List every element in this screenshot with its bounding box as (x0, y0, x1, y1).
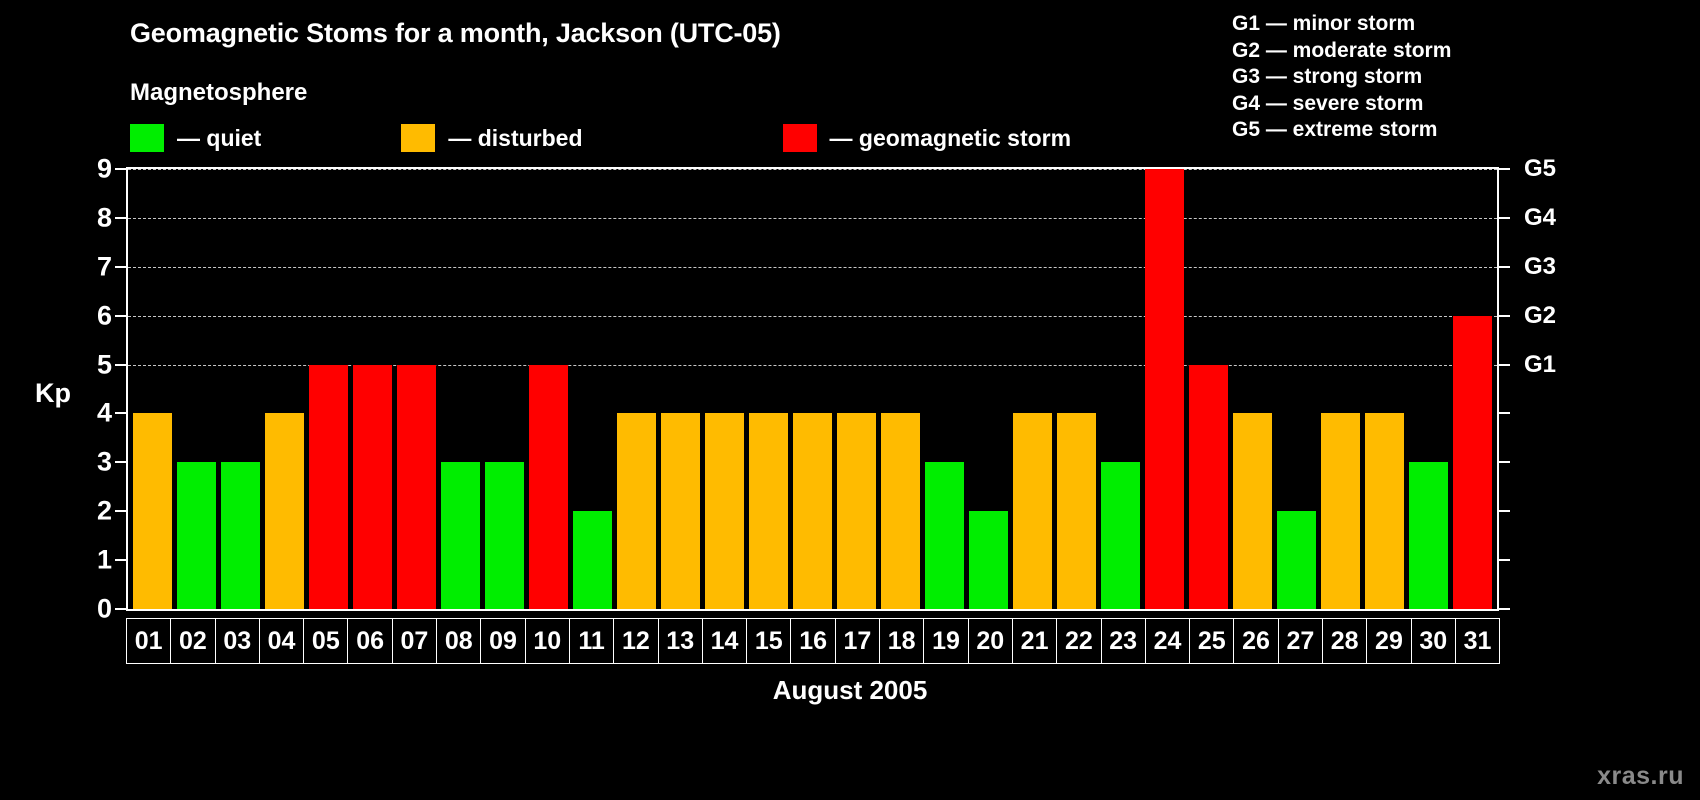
y-tick-mark-kp-3 (115, 461, 126, 463)
y-tick-mark-kp-7 (115, 266, 126, 268)
day-label-15[interactable]: 15 (746, 618, 791, 664)
bar-day-24[interactable] (1145, 169, 1184, 609)
bar-day-10[interactable] (529, 365, 568, 609)
y-tick-label-kp-2: 2 (97, 498, 112, 525)
bar-slot-02[interactable] (174, 171, 218, 609)
x-axis-title: August 2005 (0, 675, 1700, 706)
day-label-03[interactable]: 03 (215, 618, 260, 664)
x-axis-day-labels: 0102030405060708091011121314151617181920… (126, 618, 1499, 664)
bar-day-30[interactable] (1409, 462, 1448, 609)
y-tick-mark-kp-2 (115, 510, 126, 512)
bar-day-09[interactable] (485, 462, 524, 609)
bar-day-01[interactable] (133, 413, 172, 609)
page-title: Geomagnetic Stoms for a month, Jackson (… (130, 18, 781, 49)
bar-slot-12[interactable] (614, 171, 658, 609)
bar-slot-16[interactable] (790, 171, 834, 609)
bar-slot-01[interactable] (130, 171, 174, 609)
day-label-07[interactable]: 07 (392, 618, 437, 664)
legend-swatch-disturbed (401, 124, 435, 152)
day-label-30[interactable]: 30 (1411, 618, 1456, 664)
bar-day-29[interactable] (1365, 413, 1404, 609)
color-legend: — quiet— disturbed— geomagnetic storm (130, 123, 1071, 153)
day-label-29[interactable]: 29 (1366, 618, 1411, 664)
y-tick-mark-kp-9 (115, 168, 126, 170)
day-label-16[interactable]: 16 (790, 618, 835, 664)
bar-day-16[interactable] (793, 413, 832, 609)
bar-slot-27[interactable] (1275, 171, 1319, 609)
bar-slot-05[interactable] (306, 171, 350, 609)
bar-slot-15[interactable] (746, 171, 790, 609)
day-label-01[interactable]: 01 (126, 618, 171, 664)
day-label-14[interactable]: 14 (702, 618, 747, 664)
day-label-18[interactable]: 18 (879, 618, 924, 664)
bar-day-08[interactable] (441, 462, 480, 609)
bar-slot-23[interactable] (1099, 171, 1143, 609)
day-label-17[interactable]: 17 (835, 618, 880, 664)
day-label-19[interactable]: 19 (923, 618, 968, 664)
y-tick-mark-kp-4 (115, 412, 126, 414)
magnetosphere-heading: Magnetosphere (130, 79, 307, 107)
y-tick-label-g2: G2 (1524, 304, 1556, 328)
bar-day-25[interactable] (1189, 365, 1228, 609)
y-tick-mark-kp-1 (115, 559, 126, 561)
legend-label-quiet: — quiet (177, 125, 261, 152)
y-tick-label-kp-3: 3 (97, 449, 112, 476)
g-scale-row-3: G3 — strong storm (1232, 64, 1451, 91)
bar-slot-21[interactable] (1011, 171, 1055, 609)
bar-day-07[interactable] (397, 365, 436, 609)
bar-day-15[interactable] (749, 413, 788, 609)
day-label-05[interactable]: 05 (303, 618, 348, 664)
legend-label-disturbed: — disturbed (448, 125, 582, 152)
y-tick-mark-minor-kp-1 (1499, 559, 1510, 561)
day-label-28[interactable]: 28 (1322, 618, 1367, 664)
y-tick-label-g1: G1 (1524, 353, 1556, 377)
y-tick-mark-minor-kp-3 (1499, 461, 1510, 463)
day-label-20[interactable]: 20 (968, 618, 1013, 664)
g-scale-row-5: G5 — extreme storm (1232, 117, 1451, 144)
bar-day-27[interactable] (1277, 511, 1316, 609)
bar-slot-19[interactable] (923, 171, 967, 609)
y-tick-mark-g2 (1499, 315, 1510, 317)
bar-day-26[interactable] (1233, 413, 1272, 609)
bar-slot-09[interactable] (482, 171, 526, 609)
y-axis-gscale: G5G4G3G2G1 (1499, 167, 1599, 611)
legend-entry-disturbed: — disturbed (401, 123, 582, 153)
bar-slot-30[interactable] (1407, 171, 1451, 609)
day-label-22[interactable]: 22 (1056, 618, 1101, 664)
day-label-06[interactable]: 06 (347, 618, 392, 664)
bar-day-21[interactable] (1013, 413, 1052, 609)
day-label-31[interactable]: 31 (1455, 618, 1500, 664)
y-tick-mark-kp-5 (115, 364, 126, 366)
bars-container (130, 171, 1495, 609)
g-scale-legend: G1 — minor stormG2 — moderate stormG3 — … (1232, 11, 1451, 144)
y-tick-label-kp-7: 7 (97, 253, 112, 280)
y-tick-label-kp-1: 1 (97, 547, 112, 574)
bar-slot-24[interactable] (1143, 171, 1187, 609)
bar-day-06[interactable] (353, 365, 392, 609)
bar-day-31[interactable] (1453, 316, 1492, 609)
y-tick-mark-g5 (1499, 168, 1510, 170)
y-tick-mark-minor-kp-0 (1499, 608, 1510, 610)
day-label-10[interactable]: 10 (525, 618, 570, 664)
day-label-08[interactable]: 08 (436, 618, 481, 664)
bar-day-18[interactable] (881, 413, 920, 609)
bar-slot-25[interactable] (1187, 171, 1231, 609)
y-tick-mark-minor-kp-2 (1499, 510, 1510, 512)
bar-slot-13[interactable] (658, 171, 702, 609)
bar-slot-03[interactable] (218, 171, 262, 609)
legend-entry-quiet: — quiet (130, 123, 261, 153)
y-tick-label-kp-4: 4 (97, 400, 112, 427)
bar-day-03[interactable] (221, 462, 260, 609)
bar-slot-22[interactable] (1055, 171, 1099, 609)
bar-day-02[interactable] (177, 462, 216, 609)
bar-slot-10[interactable] (526, 171, 570, 609)
bar-day-23[interactable] (1101, 462, 1140, 609)
y-tick-mark-kp-6 (115, 315, 126, 317)
bar-day-11[interactable] (573, 511, 612, 609)
gridline-kp-9 (128, 169, 1497, 170)
y-tick-label-kp-8: 8 (97, 204, 112, 231)
y-axis-title: Kp (35, 378, 71, 409)
bar-day-04[interactable] (265, 413, 304, 609)
plot-area (126, 167, 1499, 611)
y-tick-mark-g4 (1499, 217, 1510, 219)
bar-slot-28[interactable] (1319, 171, 1363, 609)
g-scale-row-1: G1 — minor storm (1232, 11, 1451, 38)
day-label-04[interactable]: 04 (259, 618, 304, 664)
bar-day-19[interactable] (925, 462, 964, 609)
bar-slot-17[interactable] (835, 171, 879, 609)
day-label-21[interactable]: 21 (1012, 618, 1057, 664)
plot-inner (128, 169, 1497, 609)
day-label-23[interactable]: 23 (1101, 618, 1146, 664)
day-label-13[interactable]: 13 (658, 618, 703, 664)
bar-slot-14[interactable] (702, 171, 746, 609)
y-tick-mark-kp-8 (115, 217, 126, 219)
bar-slot-08[interactable] (438, 171, 482, 609)
y-tick-label-kp-9: 9 (97, 156, 112, 183)
y-tick-label-g3: G3 (1524, 255, 1556, 279)
day-label-11[interactable]: 11 (569, 618, 614, 664)
bar-slot-18[interactable] (879, 171, 923, 609)
bar-day-22[interactable] (1057, 413, 1096, 609)
bar-day-17[interactable] (837, 413, 876, 609)
y-tick-label-kp-5: 5 (97, 351, 112, 378)
day-label-12[interactable]: 12 (613, 618, 658, 664)
day-label-09[interactable]: 09 (480, 618, 525, 664)
watermark: xras.ru (1597, 762, 1684, 791)
y-tick-label-g4: G4 (1524, 206, 1556, 230)
bar-day-20[interactable] (969, 511, 1008, 609)
bar-slot-04[interactable] (262, 171, 306, 609)
y-tick-mark-g1 (1499, 364, 1510, 366)
bar-day-14[interactable] (705, 413, 744, 609)
day-label-27[interactable]: 27 (1278, 618, 1323, 664)
legend-entry-storm: — geomagnetic storm (783, 123, 1072, 153)
legend-swatch-quiet (130, 124, 164, 152)
bar-day-13[interactable] (661, 413, 700, 609)
bar-slot-31[interactable] (1451, 171, 1495, 609)
y-tick-label-kp-6: 6 (97, 302, 112, 329)
legend-swatch-storm (783, 124, 817, 152)
y-tick-mark-kp-0 (115, 608, 126, 610)
y-tick-mark-minor-kp-4 (1499, 412, 1510, 414)
bar-day-28[interactable] (1321, 413, 1360, 609)
g-scale-row-2: G2 — moderate storm (1232, 38, 1451, 65)
bar-slot-11[interactable] (570, 171, 614, 609)
bar-slot-20[interactable] (967, 171, 1011, 609)
day-label-24[interactable]: 24 (1145, 618, 1190, 664)
bar-slot-26[interactable] (1231, 171, 1275, 609)
day-label-25[interactable]: 25 (1189, 618, 1234, 664)
bar-day-12[interactable] (617, 413, 656, 609)
y-tick-mark-g3 (1499, 266, 1510, 268)
legend-label-storm: — geomagnetic storm (830, 125, 1072, 152)
bar-day-05[interactable] (309, 365, 348, 609)
day-label-26[interactable]: 26 (1233, 618, 1278, 664)
bar-slot-06[interactable] (350, 171, 394, 609)
bar-slot-29[interactable] (1363, 171, 1407, 609)
y-tick-label-g5: G5 (1524, 157, 1556, 181)
day-label-02[interactable]: 02 (170, 618, 215, 664)
bar-slot-07[interactable] (394, 171, 438, 609)
g-scale-row-4: G4 — severe storm (1232, 91, 1451, 118)
y-tick-label-kp-0: 0 (97, 596, 112, 623)
